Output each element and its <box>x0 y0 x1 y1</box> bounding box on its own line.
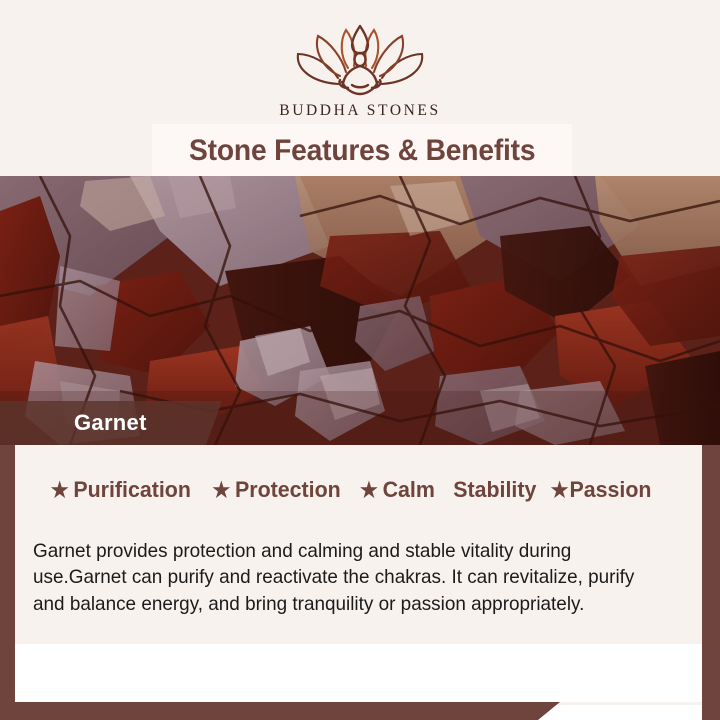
benefit-label: Protection <box>235 477 341 503</box>
frame-corner-bottom-left <box>0 702 560 720</box>
lotus-meditation-icon <box>280 18 440 100</box>
benefit-label: Calm <box>382 477 434 503</box>
benefit-calm: ★ Calm <box>360 477 435 503</box>
star-icon: ★ <box>212 480 230 501</box>
page-title: Stone Features & Benefits <box>189 134 535 168</box>
benefit-passion: ★ Passion <box>551 477 652 503</box>
stone-name-banner: Garnet <box>0 401 222 445</box>
star-icon: ★ <box>51 480 69 501</box>
benefit-stability: Stability <box>453 477 536 503</box>
stone-description: Garnet provides protection and calming a… <box>33 538 668 618</box>
benefit-label: Stability <box>453 477 536 503</box>
stone-name: Garnet <box>74 410 147 436</box>
footer-strip <box>15 644 702 702</box>
star-icon: ★ <box>360 480 378 501</box>
benefits-list: ★ Purification ★ Protection ★ Calm Stabi… <box>47 477 687 503</box>
page-title-ribbon: Stone Features & Benefits <box>152 124 572 178</box>
benefit-label: Purification <box>73 477 191 503</box>
star-icon: ★ <box>551 480 569 501</box>
brand-name: BUDDHA STONES <box>0 102 720 120</box>
benefit-label: Passion <box>570 477 652 503</box>
brand-logo: BUDDHA STONES <box>0 18 720 120</box>
benefit-protection: ★ Protection <box>212 477 340 503</box>
infographic-page: BUDDHA STONES Stone Features & Benefits <box>0 0 720 720</box>
benefit-purification: ★ Purification <box>51 477 191 503</box>
